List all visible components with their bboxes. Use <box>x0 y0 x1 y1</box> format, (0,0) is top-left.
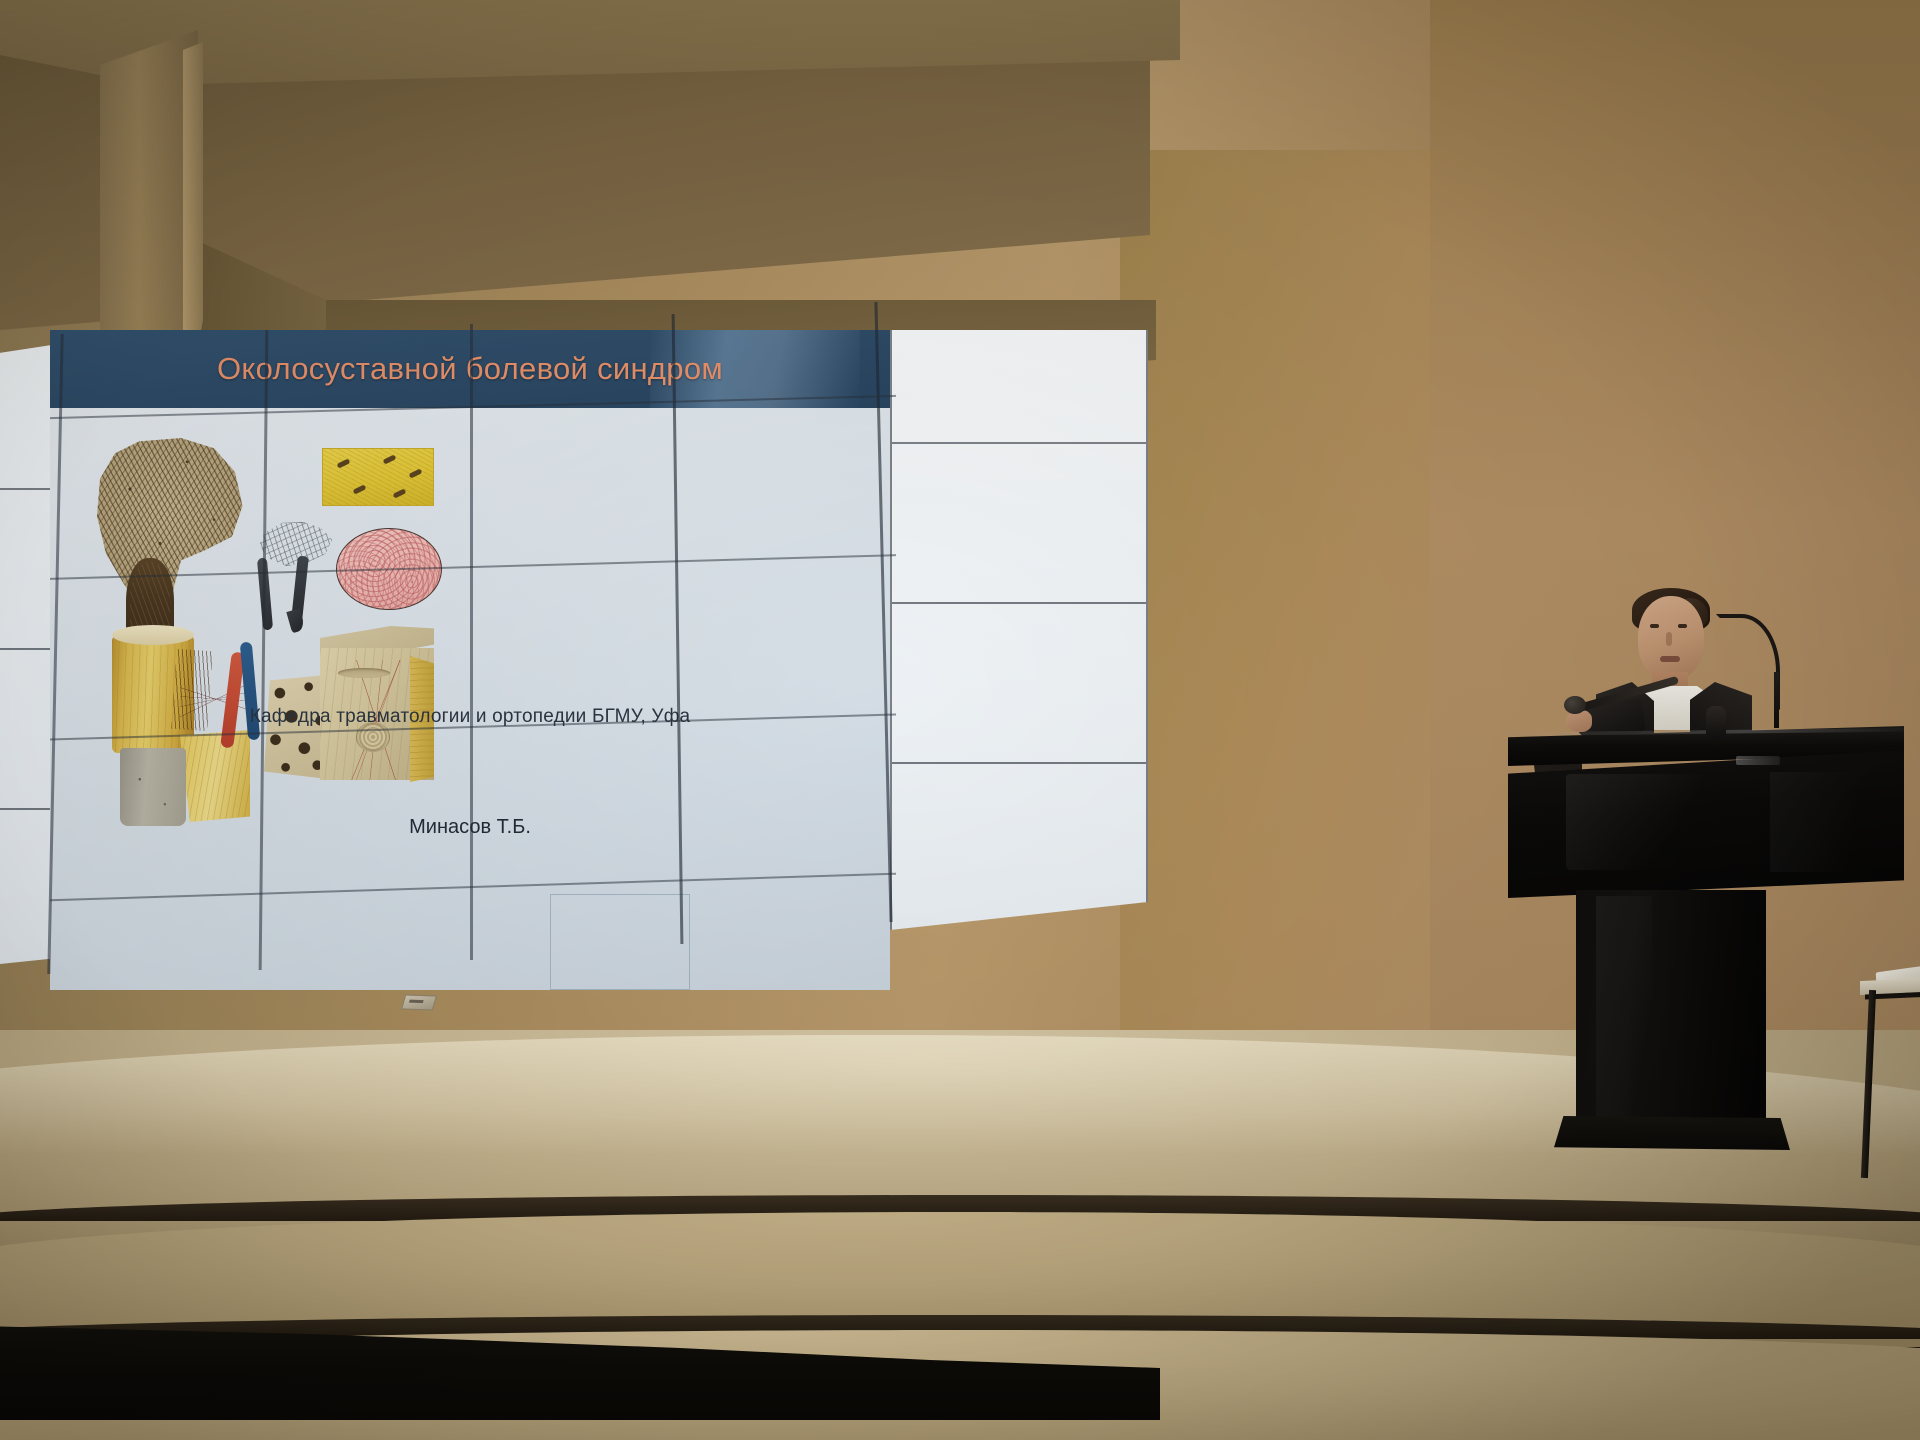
trajectory-line-b <box>290 556 309 631</box>
volkmann-canal <box>338 668 390 678</box>
panel-bezel-h <box>892 762 1146 764</box>
presenter-eye-left <box>1650 624 1659 628</box>
curved-video-wall[interactable]: Околосуставной болевой синдром <box>0 330 1150 1030</box>
podium-reflection-2 <box>1770 772 1890 872</box>
slide-placeholder-box <box>550 894 690 990</box>
podium-and-presenter <box>1520 560 1920 1180</box>
panel-bezel-h <box>0 488 56 490</box>
conference-hall-scene: Околосуставной болевой синдром <box>0 0 1920 1440</box>
cortical-shaft-lower <box>120 748 186 826</box>
presenter-nose <box>1666 632 1672 646</box>
gooseneck-microphone[interactable] <box>1716 614 1780 710</box>
video-panel-column-6[interactable] <box>890 330 1148 930</box>
osteocyte-cell <box>409 468 423 478</box>
microphone-head-icon <box>1564 696 1586 714</box>
panel-bezel-h <box>0 648 56 650</box>
osteocyte-cell <box>337 458 351 468</box>
stress-trajectory-wireframe <box>256 522 332 566</box>
panel-bezel-h <box>0 808 56 810</box>
cortex-flap <box>180 730 250 822</box>
yellow-histology-section <box>322 448 434 506</box>
presenter-eye-right <box>1678 624 1687 628</box>
panel-seam-v <box>470 324 473 960</box>
osteocyte-cell <box>393 488 407 498</box>
podium-base <box>1554 1116 1790 1150</box>
gooseneck-microphone-stem <box>1774 672 1779 728</box>
podium-microphone-base <box>1706 706 1726 738</box>
panel-glow <box>892 330 1146 930</box>
panel-bezel-h <box>892 602 1146 604</box>
osteocyte-cell <box>383 454 397 464</box>
podium-column-reflection <box>1596 896 1652 1120</box>
panel-bezel-h <box>892 442 1146 444</box>
podium-logo <box>1736 756 1780 765</box>
osteocyte-cell <box>353 484 367 494</box>
side-table-leg-left <box>1861 990 1876 1178</box>
podium-reflection <box>1566 774 1716 870</box>
presenter-mouth <box>1660 656 1680 662</box>
